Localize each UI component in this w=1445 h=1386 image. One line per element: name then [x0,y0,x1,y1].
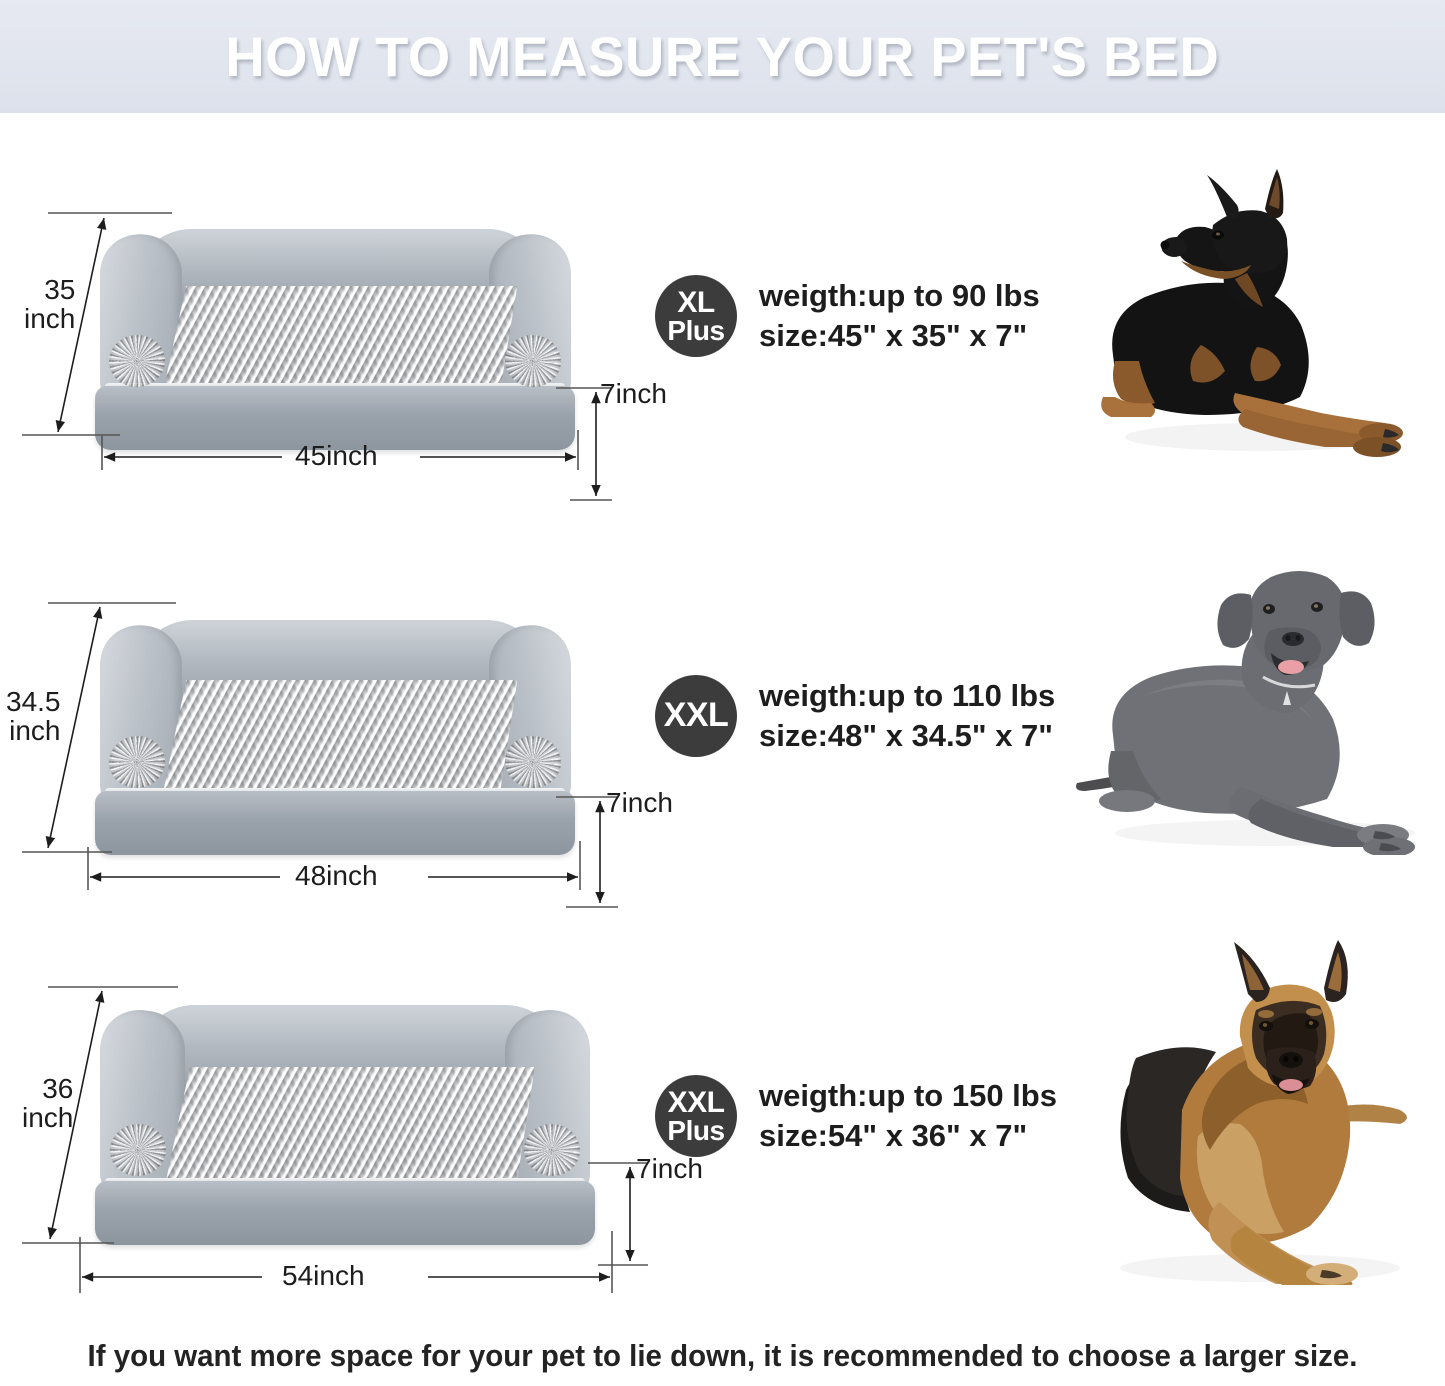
bed-base-slab [95,791,575,855]
page-header-banner: HOW TO MEASURE YOUR PET'S BED [0,0,1445,113]
spec-block: XXL weigth:up to 110 lbs size:48" x 34.5… [655,675,1055,757]
size-row-xxl-plus: 36 inch 54inch 7inch XXL Plus weigth:up … [0,935,1445,1335]
spec-size-line: size:48" x 34.5" x 7" [759,716,1055,756]
bed-height-label: 7inch [636,1155,703,1184]
size-badge-line1: XXL [664,699,729,732]
size-badge-line2: Plus [667,1117,724,1144]
size-badge-line1: XXL [668,1088,725,1117]
size-badge: XXL Plus [655,1075,737,1157]
spec-text: weigth:up to 90 lbs size:45" x 35" x 7" [759,276,1040,355]
bed-depth-label: 35 inch [24,276,75,333]
spec-text: weigth:up to 110 lbs size:48" x 34.5" x … [759,676,1055,755]
bed-depth-label: 36 inch [22,1075,73,1132]
pet-bed-illustration [95,990,595,1245]
size-badge-line2: Plus [667,317,724,344]
bed-height-label: 7inch [606,789,673,818]
bed-height-label: 7inch [600,380,667,409]
spec-weight-line: weigth:up to 90 lbs [759,276,1040,316]
bed-width-label: 48inch [295,862,378,891]
size-row-xl-plus: 35 inch 45inch 7inch XL Plus weigth:up t… [0,140,1445,540]
bed-figure: 36 inch 54inch 7inch [0,935,700,1335]
pet-bed-illustration [95,215,575,450]
spec-size-line: size:54" x 36" x 7" [759,1116,1057,1156]
bed-base-slab [95,1181,595,1245]
spec-block: XXL Plus weigth:up to 150 lbs size:54" x… [655,1075,1057,1157]
german-shepherd-photo [1070,940,1445,1285]
bed-width-label: 54inch [282,1262,365,1291]
size-badge: XL Plus [655,275,737,357]
bed-width-label: 45inch [295,442,378,471]
spec-text: weigth:up to 150 lbs size:54" x 36" x 7" [759,1076,1057,1155]
footer-note: If you want more space for your pet to l… [36,1338,1409,1374]
bed-figure: 35 inch 45inch 7inch [0,140,700,540]
bed-figure: 34.5 inch 48inch 7inch [0,545,700,945]
bed-depth-label: 34.5 inch [6,688,61,745]
great-dane-photo [1065,555,1445,855]
doberman-pinscher-photo [1085,165,1435,465]
pet-bed-illustration [95,605,575,855]
spec-weight-line: weigth:up to 150 lbs [759,1076,1057,1116]
spec-size-line: size:45" x 35" x 7" [759,316,1040,356]
size-badge: XXL [655,675,737,757]
spec-weight-line: weigth:up to 110 lbs [759,676,1055,716]
page-title: HOW TO MEASURE YOUR PET'S BED [226,24,1220,89]
size-badge-line1: XL [677,288,714,317]
size-row-xxl: 34.5 inch 48inch 7inch XXL weigth:up to … [0,545,1445,945]
spec-block: XL Plus weigth:up to 90 lbs size:45" x 3… [655,275,1040,357]
